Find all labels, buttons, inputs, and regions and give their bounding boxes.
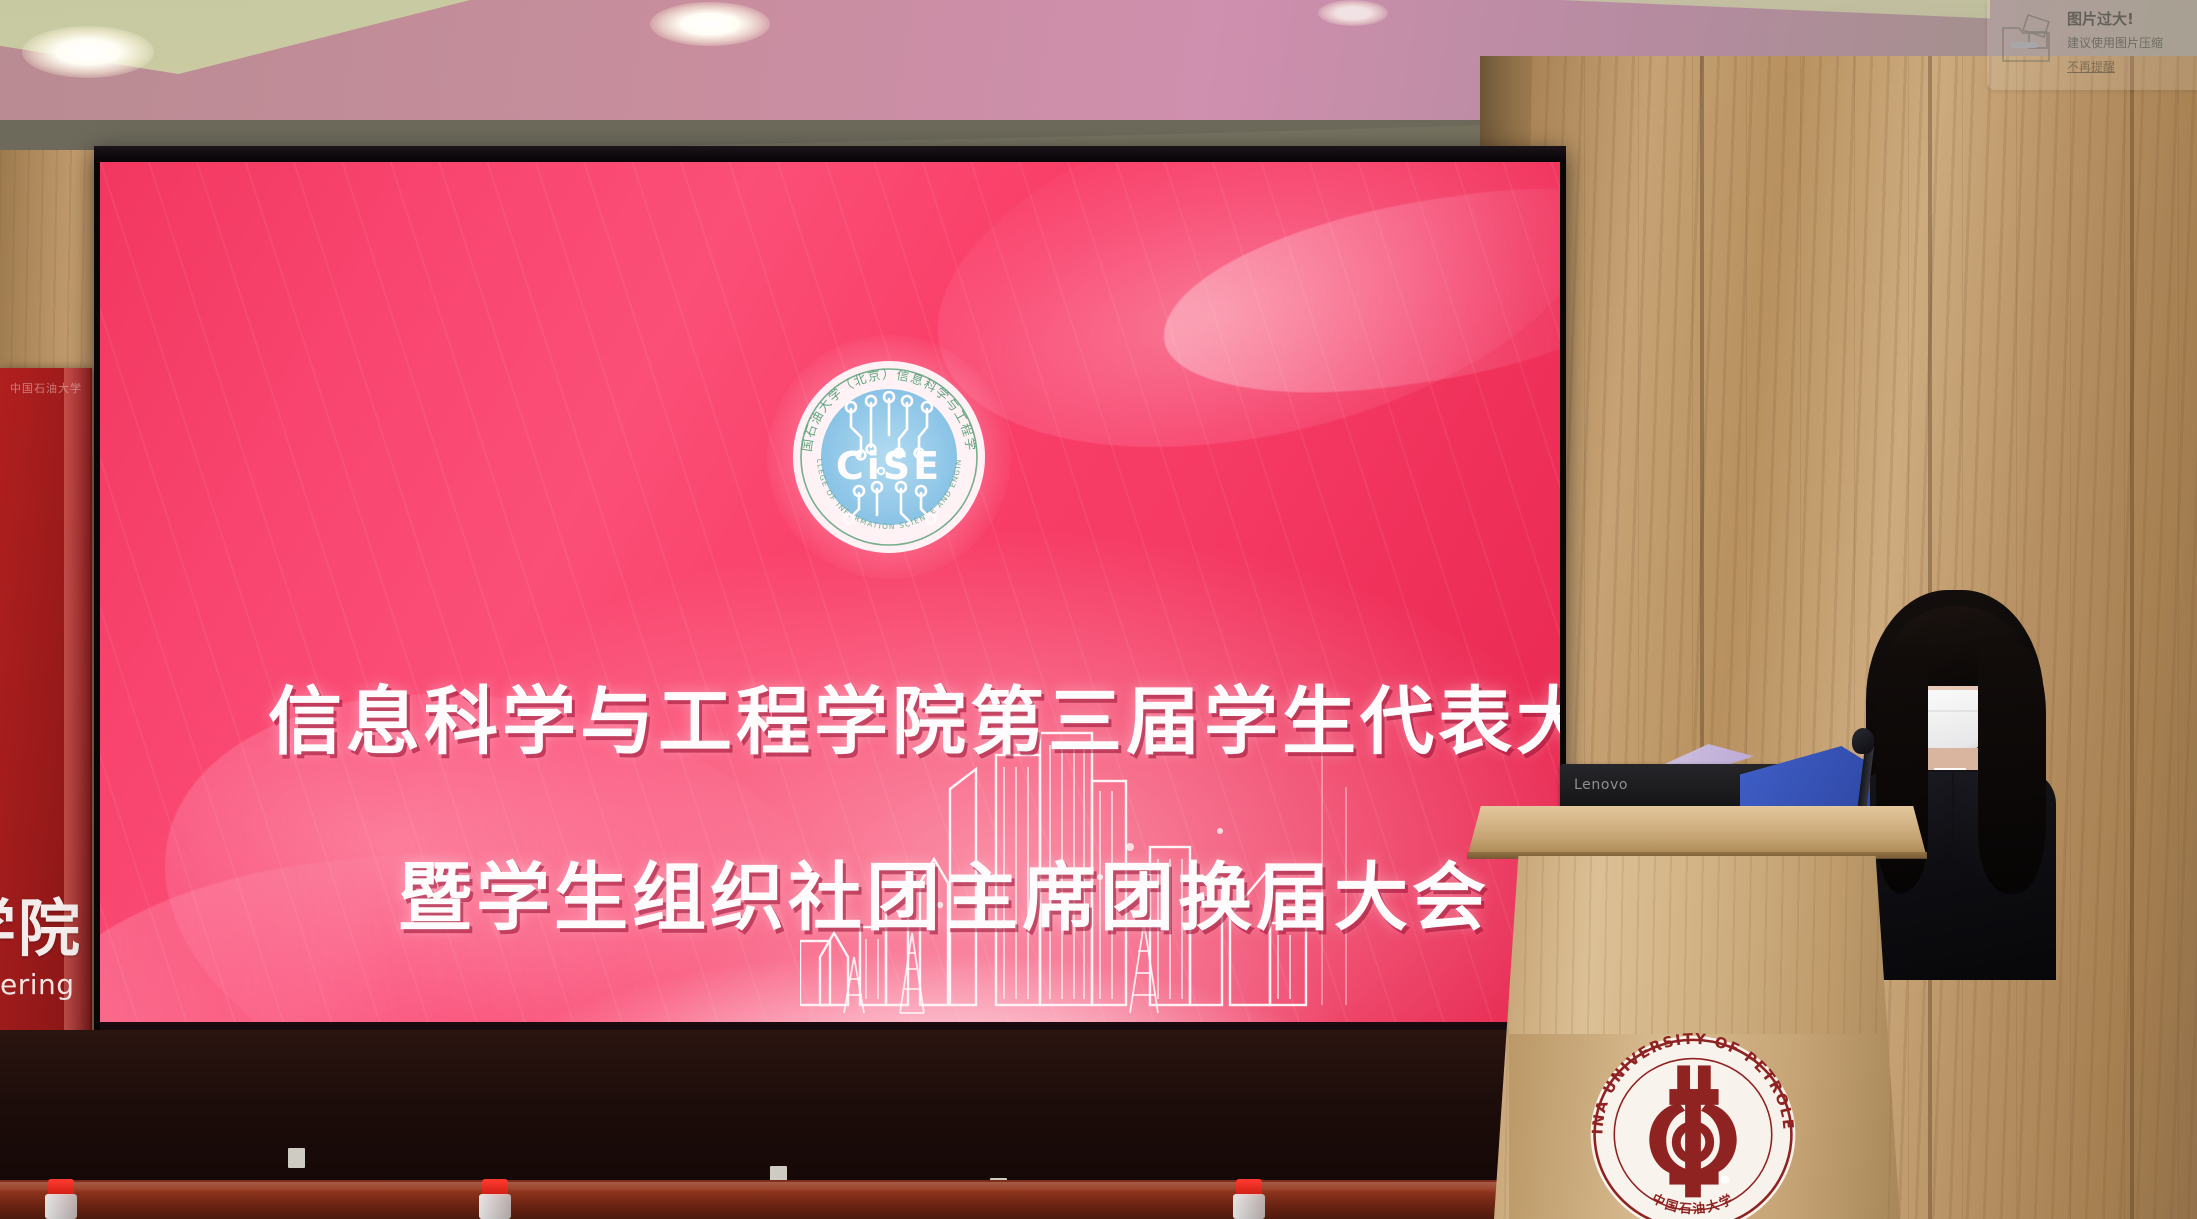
wood-seam — [2130, 56, 2134, 1219]
podium-top — [1467, 806, 1927, 858]
downlight-icon — [22, 26, 154, 78]
laptop-brand-label: Lenovo — [1574, 777, 1628, 793]
notice-text-block: 图片过大! 建议使用图片压缩 不再提醒 — [2067, 10, 2197, 75]
bottle-body — [1233, 1194, 1265, 1219]
led-screen-bezel — [94, 146, 1566, 162]
water-bottle[interactable] — [44, 1179, 78, 1219]
image-stack-icon — [1999, 14, 2057, 68]
downlight-icon — [650, 2, 770, 46]
notice-description: 建议使用图片压缩 — [2067, 37, 2197, 50]
screen-title-line-2: 暨学生组织社团主席团换届大会 — [398, 838, 1490, 945]
water-bottle[interactable] — [1232, 1179, 1266, 1219]
downlight-icon — [1318, 0, 1388, 26]
image-too-large-notice[interactable]: 图片过大! 建议使用图片压缩 不再提醒 — [1987, 0, 2197, 90]
led-screen[interactable]: 中国石油大学（北京）信息科学与工程学院 CUP COLLEGE OF INFOR… — [100, 162, 1560, 1057]
water-bottle[interactable] — [478, 1179, 512, 1219]
bottle-body — [479, 1194, 511, 1219]
cise-logo: 中国石油大学（北京）信息科学与工程学院 CUP COLLEGE OF INFOR… — [789, 357, 989, 557]
bottle-body — [45, 1194, 77, 1219]
table-reflection — [0, 1182, 1560, 1192]
university-emblem: CHINA UNIVERSITY OF PETROLEUM 中国石油大学 — [1574, 1032, 1812, 1219]
speaker-person — [1850, 580, 2062, 980]
logo-glow — [767, 335, 1011, 579]
banner-label-cn: 学院 — [0, 878, 92, 968]
banner-top-text: 中国石油大学 — [10, 380, 82, 396]
notice-title: 图片过大! — [2067, 11, 2197, 28]
speaker-hair-right — [1978, 644, 2046, 894]
dont-remind-link[interactable]: 不再提醒 — [2067, 61, 2115, 74]
screenshot-stage: 中国石油大学 学院 neering — [0, 0, 2197, 1219]
microphone-icon — [1852, 728, 1874, 754]
banner-label-en: neering — [0, 968, 92, 1001]
floor-marker — [288, 1148, 305, 1168]
screen-title-line-1: 信息科学与工程学院第三届学生代表大会 — [268, 662, 1560, 769]
